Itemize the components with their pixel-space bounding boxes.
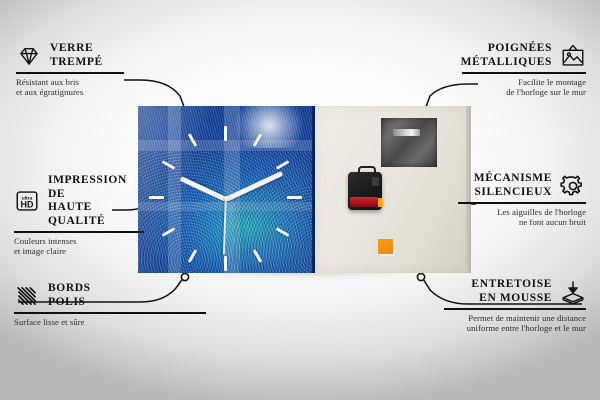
quartz-mechanism-box (348, 172, 382, 210)
callout-title-2: HAUTE QUALITÉ (48, 201, 144, 228)
callout-verre-trempe: VERRE TREMPÉ Résistant aux bris et aux é… (16, 42, 124, 97)
hanging-frame-icon (560, 43, 586, 69)
clock-back-panel (315, 106, 471, 273)
callout-subtitle-2: et aux égratignures (16, 87, 124, 97)
diamond-icon (16, 43, 42, 69)
callout-title-2: SILENCIEUX (474, 186, 552, 200)
battery-positive-tip (378, 198, 383, 207)
foam-spacer-pad (378, 239, 393, 254)
callout-mecanisme-silencieux: MÉCANISME SILENCIEUX Les aiguilles de l'… (458, 172, 586, 227)
callout-rule (458, 202, 586, 204)
svg-text:HD: HD (21, 200, 34, 210)
polished-edge-lines-icon (14, 283, 40, 309)
hanger-slot (393, 129, 420, 136)
callout-subtitle-2: et image claire (14, 246, 144, 256)
foam-spacer-arrow-icon (560, 279, 586, 305)
callout-subtitle: Facilite le montage (462, 77, 586, 87)
callout-subtitle-2: uniforme entre l'horloge et le mur (444, 323, 586, 333)
callout-rule (462, 72, 586, 74)
callout-title-2: EN MOUSSE (471, 292, 552, 306)
callout-subtitle-2: de l'horloge sur le mur (462, 87, 586, 97)
infographic-canvas: VERRE TREMPÉ Résistant aux bris et aux é… (0, 0, 600, 400)
callout-rule (14, 231, 144, 233)
mechanism-knob (372, 177, 379, 186)
callout-impression-haute-qualite: ultra HD IMPRESSION DE HAUTE QUALITÉ Cou… (14, 174, 144, 256)
callout-rule (444, 308, 586, 310)
callout-entretoise-en-mousse: ENTRETOISE EN MOUSSE Permet de maintenir… (444, 278, 586, 333)
callout-subtitle: Couleurs intenses (14, 236, 144, 246)
callout-bords-polis: BORDS POLIS Surface lisse et sûre (14, 282, 120, 327)
callout-subtitle: Surface lisse et sûre (14, 317, 120, 327)
callout-title: MÉCANISME (474, 172, 552, 186)
callout-title-2: MÉTALLIQUES (461, 56, 552, 70)
callout-title: VERRE (50, 42, 103, 56)
callout-subtitle: Les aiguilles de l'horloge (458, 207, 586, 217)
clock-hands-cap (224, 196, 229, 201)
callout-subtitle: Résistant aux bris (16, 77, 124, 87)
callout-title: IMPRESSION DE (48, 174, 144, 201)
callout-title: POIGNÉES (461, 42, 552, 56)
callout-title-2: TREMPÉ (50, 56, 103, 70)
metal-hanger-plate (381, 118, 437, 167)
gear-icon (560, 173, 586, 199)
callout-title: ENTRETOISE (471, 278, 552, 292)
printed-glass-clock-face (138, 106, 315, 273)
callout-subtitle-2: ne font aucun bruit (458, 217, 586, 227)
mechanism-hook (358, 166, 376, 177)
aa-battery (350, 197, 378, 207)
callout-rule (14, 312, 206, 314)
callout-rule (16, 72, 124, 74)
callout-title: BORDS (48, 282, 91, 296)
product-photo (138, 106, 471, 273)
callout-poignees-metalliques: POIGNÉES MÉTALLIQUES Facilite le montage… (462, 42, 586, 97)
ultra-hd-icon: ultra HD (14, 188, 40, 214)
callout-title-2: POLIS (48, 296, 91, 310)
callout-subtitle: Permet de maintenir une distance (444, 313, 586, 323)
